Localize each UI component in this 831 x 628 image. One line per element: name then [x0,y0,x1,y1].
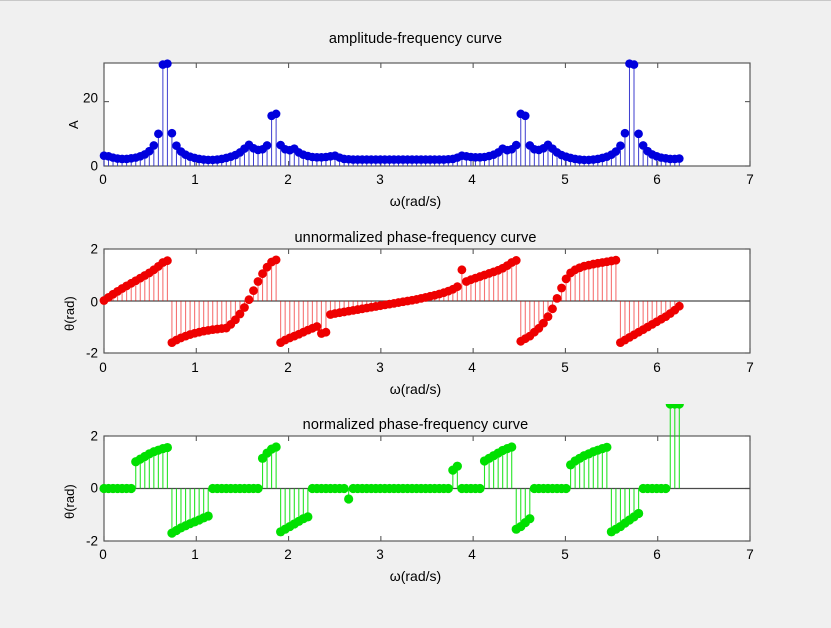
axes-unnormalized-phase [0,216,831,406]
axes-normalized-phase [0,404,831,604]
matlab-figure-window: amplitude-frequency curve A 20 0 0 1 2 3… [0,0,831,628]
panel-unnormalized-phase: unnormalized phase-frequency curve θ(rad… [0,216,831,406]
panel-amplitude: amplitude-frequency curve A 20 0 0 1 2 3… [0,1,831,216]
panel-normalized-phase: normalized phase-frequency curve θ(rad) … [0,404,831,604]
axes-amplitude [0,1,831,216]
